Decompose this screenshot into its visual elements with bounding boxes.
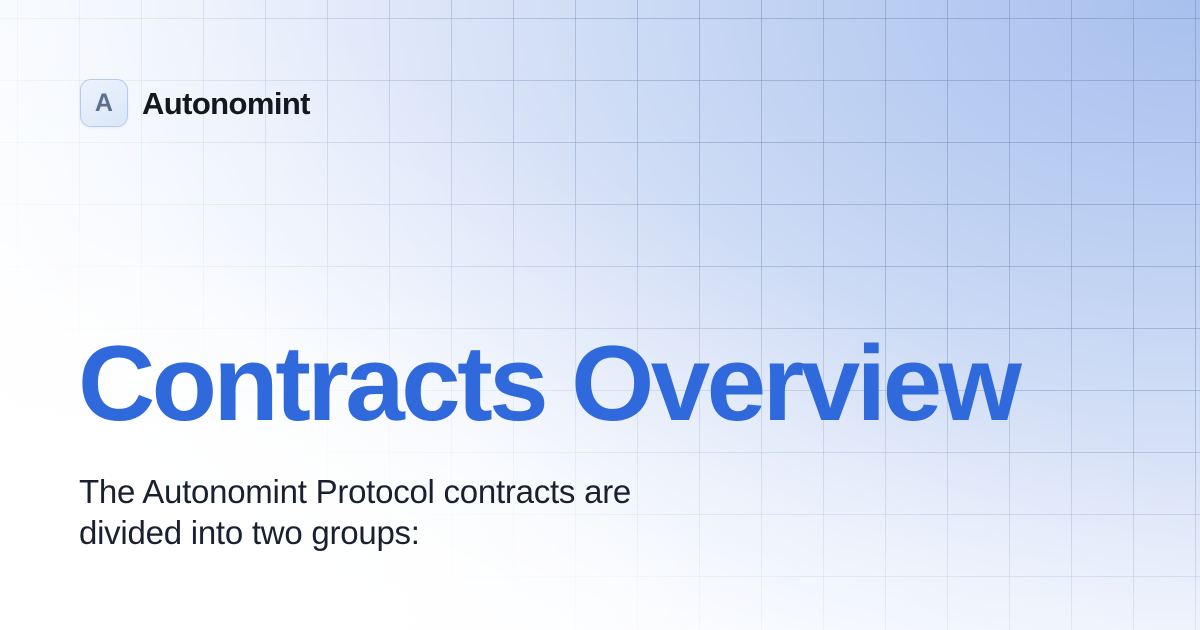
brand-name: Autonomint — [142, 88, 310, 119]
autonomint-logo-icon: A — [80, 79, 128, 127]
logo-letter: A — [95, 91, 113, 116]
slide-content: A Autonomint Contracts Overview The Auto… — [0, 0, 1200, 630]
subtitle-line-1: The Autonomint Protocol contracts are — [79, 471, 631, 512]
page-title: Contracts Overview — [78, 330, 1018, 437]
page-subtitle: The Autonomint Protocol contracts are di… — [79, 471, 631, 553]
subtitle-line-2: divided into two groups: — [79, 512, 631, 553]
brand-lockup: A Autonomint — [80, 79, 310, 127]
